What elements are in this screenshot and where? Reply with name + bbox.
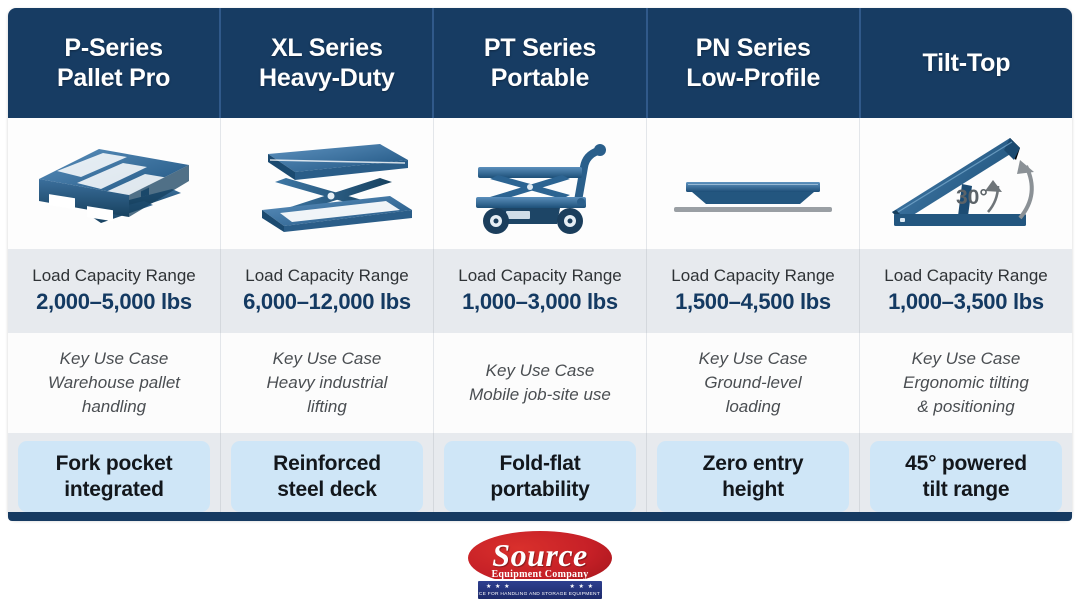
column-header-pn-series[interactable]: PN Series Low-Profile	[648, 8, 861, 118]
feature-line2: portability	[490, 478, 589, 501]
capacity-cell-tilt-top: Load Capacity Range 1,000–3,500 lbs	[860, 249, 1072, 333]
usecase-line2: handling	[82, 395, 146, 419]
column-header-tilt-top[interactable]: Tilt-Top	[861, 8, 1072, 118]
feature-cell-tilt-top: 45° powered tilt range	[860, 433, 1072, 520]
usecase-line2: & positioning	[917, 395, 1014, 419]
capacity-value: 2,000–5,000 lbs	[36, 288, 192, 317]
logo-blue-banner: ★ ★ ★ ★ ★ ★ YOUR SOURCE FOR HANDLING AND…	[476, 579, 604, 601]
usecase-label: Key Use Case	[699, 347, 808, 371]
usecase-line1: Ground-level	[704, 371, 801, 395]
column-header-line1: XL Series	[271, 33, 383, 64]
usecase-label: Key Use Case	[486, 359, 595, 383]
column-header-line1: PT Series	[484, 33, 596, 64]
feature-badge[interactable]: Fold-flat portability	[444, 441, 636, 512]
capacity-cell-pt-series: Load Capacity Range 1,000–3,000 lbs	[434, 249, 647, 333]
icon-cell-xl-series	[221, 118, 434, 249]
usecase-label: Key Use Case	[912, 347, 1021, 371]
capacity-label: Load Capacity Range	[458, 265, 622, 287]
tilt-angle-label: 30°	[956, 186, 988, 209]
scissor-lift-table-icon	[240, 134, 415, 234]
column-header-line1: Tilt-Top	[923, 48, 1011, 79]
feature-line2: tilt range	[923, 478, 1010, 501]
usecase-cell-xl-series: Key Use Case Heavy industrial lifting	[221, 333, 434, 433]
column-header-line2: Portable	[491, 63, 589, 94]
icon-cell-p-series	[8, 118, 221, 249]
feature-line2: integrated	[64, 478, 164, 501]
table-feature-row: Fork pocket integrated Reinforced steel …	[8, 433, 1072, 520]
capacity-cell-p-series: Load Capacity Range 2,000–5,000 lbs	[8, 249, 221, 333]
column-header-line2: Low-Profile	[686, 63, 820, 94]
feature-line1: Reinforced	[273, 452, 381, 475]
capacity-label: Load Capacity Range	[245, 265, 409, 287]
capacity-value: 1,000–3,500 lbs	[888, 288, 1044, 317]
usecase-line1: Warehouse pallet	[48, 371, 180, 395]
comparison-table-page: P-Series Pallet Pro XL Series Heavy-Duty…	[0, 0, 1080, 603]
usecase-cell-pt-series: Key Use Case Mobile job-site use	[434, 333, 647, 433]
usecase-cell-p-series: Key Use Case Warehouse pallet handling	[8, 333, 221, 433]
capacity-label: Load Capacity Range	[32, 265, 196, 287]
column-header-xl-series[interactable]: XL Series Heavy-Duty	[221, 8, 434, 118]
feature-cell-xl-series: Reinforced steel deck	[221, 433, 434, 520]
usecase-label: Key Use Case	[273, 347, 382, 371]
feature-cell-pn-series: Zero entry height	[647, 433, 860, 520]
table-icon-row: 30°	[8, 118, 1072, 249]
icon-cell-pt-series	[434, 118, 647, 249]
low-profile-platform-icon	[668, 144, 838, 224]
usecase-line1: Ergonomic tilting	[903, 371, 1029, 395]
capacity-label: Load Capacity Range	[671, 265, 835, 287]
icon-cell-pn-series	[647, 118, 860, 249]
mobile-scissor-cart-icon	[460, 129, 620, 239]
feature-line1: Fold-flat	[499, 452, 580, 475]
table-bottom-accent-bar	[8, 512, 1072, 521]
feature-badge[interactable]: Zero entry height	[657, 441, 849, 512]
product-comparison-table: P-Series Pallet Pro XL Series Heavy-Duty…	[8, 8, 1072, 520]
feature-line1: Zero entry	[703, 452, 804, 475]
capacity-value: 1,000–3,000 lbs	[462, 288, 618, 317]
feature-cell-pt-series: Fold-flat portability	[434, 433, 647, 520]
capacity-label: Load Capacity Range	[884, 265, 1048, 287]
feature-line2: height	[722, 478, 784, 501]
footer-logo-area: Source Equipment Company ★ ★ ★ ★ ★ ★ YOU…	[0, 527, 1080, 603]
capacity-value: 6,000–12,000 lbs	[243, 288, 411, 317]
logo-tagline: YOUR SOURCE FOR HANDLING AND STORAGE EQU…	[447, 592, 632, 597]
feature-line1: 45° powered	[905, 452, 1027, 475]
capacity-cell-pn-series: Load Capacity Range 1,500–4,500 lbs	[647, 249, 860, 333]
feature-badge[interactable]: Reinforced steel deck	[231, 441, 423, 512]
usecase-line2: lifting	[307, 395, 347, 419]
column-header-pt-series[interactable]: PT Series Portable	[434, 8, 647, 118]
feature-badge[interactable]: 45° powered tilt range	[870, 441, 1062, 512]
usecase-line1: Mobile job-site use	[469, 383, 611, 407]
table-header-row: P-Series Pallet Pro XL Series Heavy-Duty…	[8, 8, 1072, 118]
feature-badge[interactable]: Fork pocket integrated	[18, 441, 210, 512]
feature-line1: Fork pocket	[56, 452, 173, 475]
usecase-line2: loading	[726, 395, 781, 419]
column-header-line2: Pallet Pro	[57, 63, 170, 94]
table-capacity-row: Load Capacity Range 2,000–5,000 lbs Load…	[8, 249, 1072, 333]
usecase-line1: Heavy industrial	[267, 371, 388, 395]
capacity-cell-xl-series: Load Capacity Range 6,000–12,000 lbs	[221, 249, 434, 333]
logo-stars-row: ★ ★ ★ ★ ★ ★	[478, 584, 602, 590]
logo-stars-left: ★ ★ ★	[486, 584, 510, 590]
feature-cell-p-series: Fork pocket integrated	[8, 433, 221, 520]
usecase-cell-tilt-top: Key Use Case Ergonomic tilting & positio…	[860, 333, 1072, 433]
column-header-line2: Heavy-Duty	[259, 63, 395, 94]
table-usecase-row: Key Use Case Warehouse pallet handling K…	[8, 333, 1072, 433]
logo-stars-right: ★ ★ ★	[570, 584, 594, 590]
column-header-line1: P-Series	[64, 33, 162, 64]
capacity-value: 1,500–4,500 lbs	[675, 288, 831, 317]
usecase-cell-pn-series: Key Use Case Ground-level loading	[647, 333, 860, 433]
source-equipment-company-logo[interactable]: Source Equipment Company ★ ★ ★ ★ ★ ★ YOU…	[458, 529, 622, 601]
icon-cell-tilt-top: 30°	[860, 118, 1072, 249]
column-header-p-series[interactable]: P-Series Pallet Pro	[8, 8, 221, 118]
feature-line2: steel deck	[277, 478, 377, 501]
pallet-with-forks-icon	[29, 131, 199, 236]
tilt-table-icon: 30°	[880, 130, 1052, 238]
column-header-line1: PN Series	[696, 33, 811, 64]
usecase-label: Key Use Case	[60, 347, 169, 371]
